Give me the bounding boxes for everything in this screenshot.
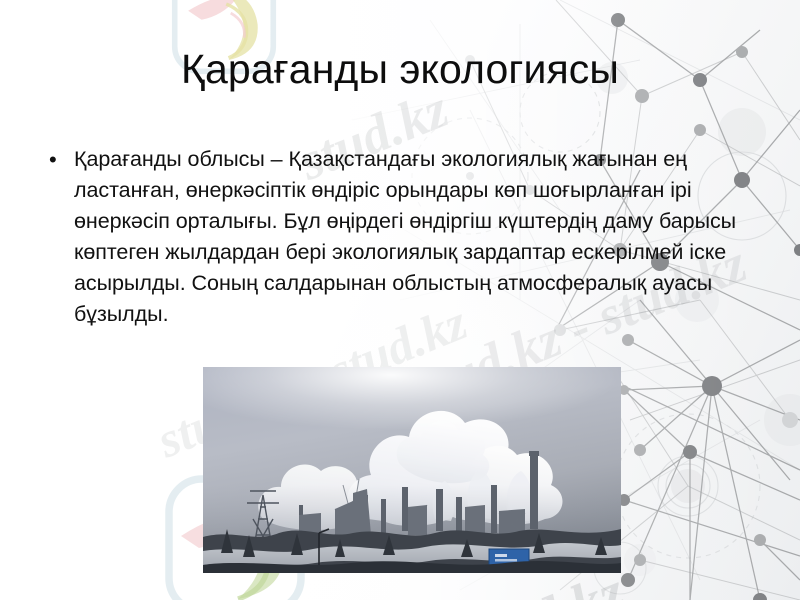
slide-canvas: stud.kz stud.kz - stud.kz stud.kz - stud… <box>0 0 800 600</box>
industrial-pollution-photo <box>203 367 621 573</box>
slide-body: • Қарағанды облысы – Қазақстандағы эколо… <box>44 144 756 330</box>
bullet-item-text: Қарағанды облысы – Қазақстандағы экологи… <box>74 144 756 330</box>
bullet-list-item: • Қарағанды облысы – Қазақстандағы эколо… <box>44 144 756 330</box>
bullet-marker-icon: • <box>44 144 74 175</box>
slide-title: Қарағанды экологиясы <box>0 44 800 94</box>
